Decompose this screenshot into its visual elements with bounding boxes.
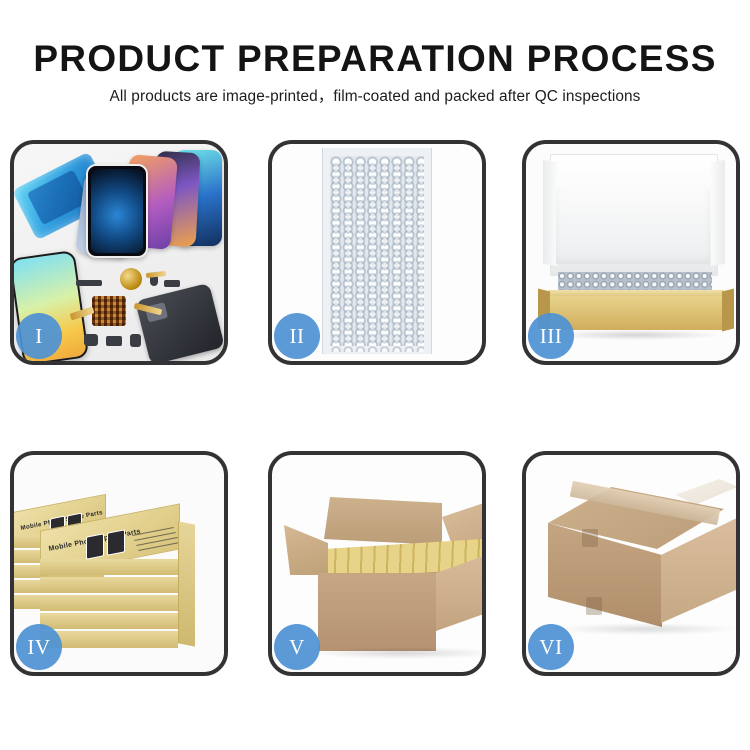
step-card-6[interactable]: VI (522, 451, 740, 676)
page-title: PRODUCT PREPARATION PROCESS (0, 38, 750, 80)
stack-a-layer-2 (40, 577, 178, 593)
vibration-motor-part (120, 268, 142, 290)
kraft-box-front (548, 296, 724, 330)
step-badge-1: I (16, 313, 62, 359)
step-badge-4: IV (16, 624, 62, 670)
step-numeral-5: V (289, 635, 305, 660)
small-part-c (164, 280, 180, 287)
step-card-4[interactable]: Mobile Phone Spare Parts Mobile Phone Sp… (10, 451, 228, 676)
stack-a-layer-1 (40, 559, 178, 575)
step-numeral-1: I (35, 324, 43, 349)
step-card-1[interactable]: I (10, 140, 228, 365)
phone-display-2 (86, 164, 148, 258)
box-shadow (552, 330, 720, 340)
carton-front-panel (318, 573, 436, 651)
carton-seam-bottom (586, 597, 602, 615)
step-card-3[interactable]: III (522, 140, 740, 365)
step-badge-6: VI (528, 624, 574, 670)
sealed-carton-shadow (556, 623, 736, 635)
step-badge-5: V (274, 624, 320, 670)
foam-liner (556, 190, 710, 264)
step-card-5[interactable]: V (268, 451, 486, 676)
stack-a-side (178, 521, 195, 646)
page-subtitle: All products are image-printed，film-coat… (0, 84, 750, 106)
step-badge-3: III (528, 313, 574, 359)
carton-seam-top (582, 529, 598, 547)
stack-a-layer-3 (40, 595, 178, 611)
step-badge-2: II (274, 313, 320, 359)
step-numeral-4: IV (27, 635, 50, 660)
small-part-d (84, 334, 98, 346)
small-part-e (106, 336, 122, 346)
step-numeral-6: VI (539, 635, 562, 660)
step-numeral-2: II (290, 324, 305, 349)
small-part-f (130, 334, 141, 347)
carton-shadow (312, 647, 482, 659)
step-numeral-3: III (540, 324, 562, 349)
stack-a-screen-a (86, 533, 104, 559)
small-part-a (76, 280, 102, 286)
carton-flap-back (324, 497, 442, 545)
stack-a-screen-b (107, 529, 125, 555)
process-steps-grid: I II (10, 140, 740, 676)
stack-a-layer-4 (40, 613, 178, 629)
connector-chip-part (92, 296, 126, 326)
step-card-2[interactable]: II (268, 140, 486, 365)
bubble-grid-overlay (330, 162, 424, 352)
infographic-page: PRODUCT PREPARATION PROCESS All products… (0, 0, 750, 750)
